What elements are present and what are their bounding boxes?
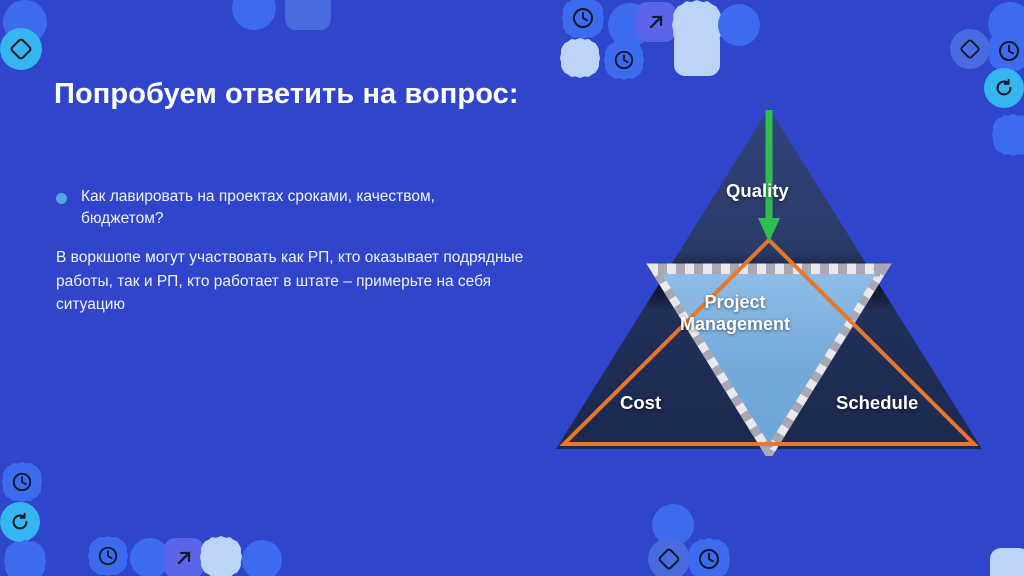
bullet-dot-icon bbox=[56, 193, 67, 204]
arrow-icon bbox=[164, 538, 204, 576]
clock-icon bbox=[2, 462, 42, 502]
decorative-shape bbox=[285, 0, 331, 30]
slide-canvas: Попробуем ответить на вопрос: Как лавиро… bbox=[0, 0, 1024, 576]
list-item: Как лавировать на проектах сроками, каче… bbox=[56, 186, 486, 230]
decorative-shape bbox=[560, 38, 600, 78]
clock-icon bbox=[688, 538, 730, 576]
circle-icon bbox=[232, 0, 276, 30]
bullet-list: Как лавировать на проектах сроками, каче… bbox=[56, 186, 486, 230]
label-project-management: Project Management bbox=[660, 292, 810, 336]
clock-icon bbox=[988, 30, 1024, 72]
body-paragraph: В воркшопе могут участвовать как РП, кто… bbox=[56, 246, 526, 317]
clock-icon bbox=[604, 40, 644, 80]
arrow-icon bbox=[636, 2, 676, 42]
label-quality: Quality bbox=[726, 180, 789, 202]
label-pm-line1: Project bbox=[660, 292, 810, 314]
triangle-graphic bbox=[548, 100, 992, 456]
diamond-icon bbox=[0, 28, 42, 70]
label-pm-line2: Management bbox=[660, 314, 810, 336]
bullet-text: Как лавировать на проектах сроками, каче… bbox=[81, 186, 486, 230]
circle-icon bbox=[718, 4, 760, 46]
label-schedule: Schedule bbox=[836, 392, 918, 414]
decorative-shape bbox=[992, 114, 1024, 156]
refresh-icon bbox=[0, 502, 40, 542]
decorative-shape bbox=[200, 536, 242, 576]
decorative-shape bbox=[4, 540, 46, 576]
project-management-triangle: Quality Cost Schedule Project Management bbox=[548, 100, 992, 456]
clock-icon bbox=[562, 0, 604, 39]
circle-icon bbox=[242, 540, 282, 576]
decorative-shape bbox=[990, 548, 1024, 576]
page-title: Попробуем ответить на вопрос: bbox=[54, 78, 519, 111]
diamond-icon bbox=[648, 538, 690, 576]
label-cost: Cost bbox=[620, 392, 661, 414]
diamond-icon bbox=[950, 29, 990, 69]
decorative-shape bbox=[674, 30, 720, 76]
clock-icon bbox=[88, 536, 128, 576]
